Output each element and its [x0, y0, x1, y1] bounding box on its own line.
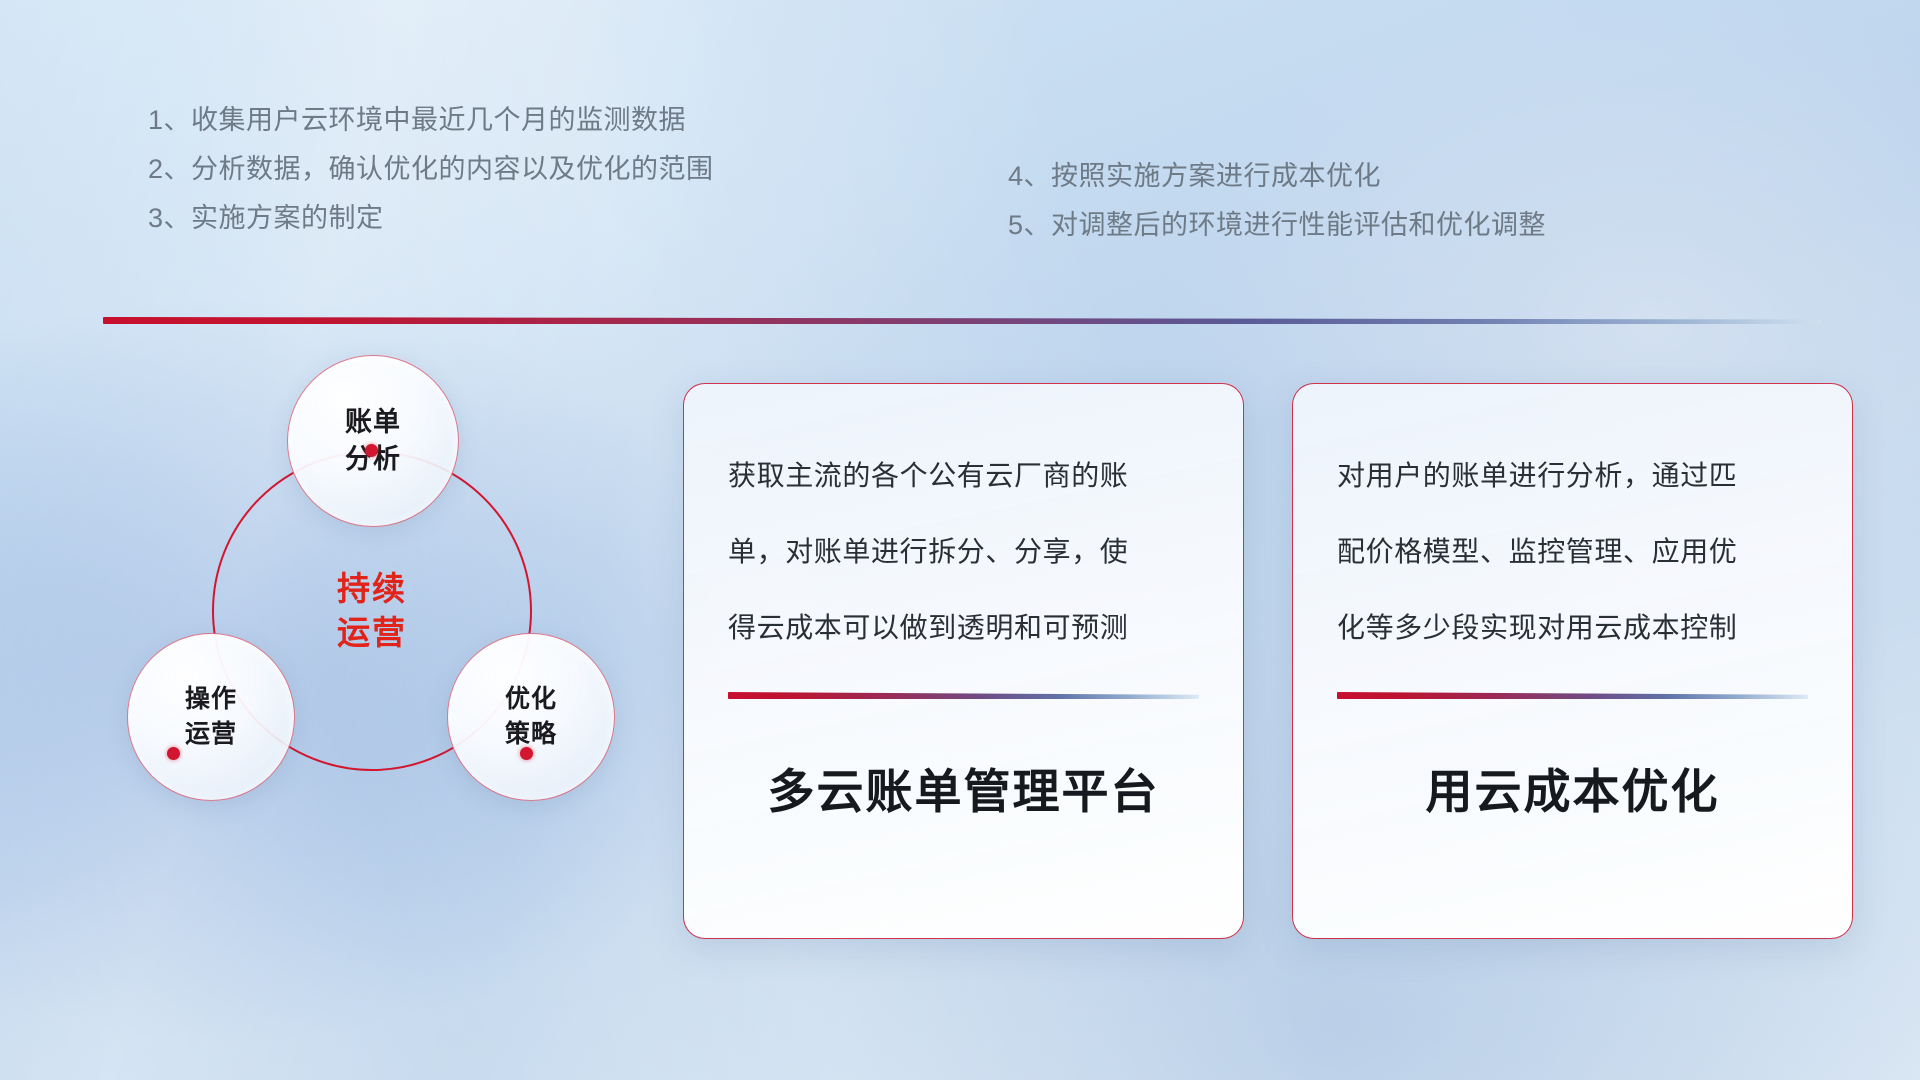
- card-body-line: 获取主流的各个公有云厂商的账: [728, 438, 1199, 514]
- center-label-line2: 运营: [337, 611, 407, 655]
- connector-dot-right: [520, 747, 533, 760]
- steps-right-column: 4、按照实施方案进行成本优化 5、对调整后的环境进行性能评估和优化调整: [1008, 152, 1546, 250]
- card-title: 用云成本优化: [1337, 753, 1808, 822]
- step-item: 4、按照实施方案进行成本优化: [1008, 152, 1546, 201]
- continuous-operation-diagram: 账单 分析 操作 运营 优化 策略 持续 运营: [95, 355, 615, 965]
- card-body: 获取主流的各个公有云厂商的账 单，对账单进行拆分、分享，使 得云成本可以做到透明…: [728, 438, 1199, 666]
- connector-dot-top: [365, 444, 378, 457]
- card-body-line: 配价格模型、监控管理、应用优: [1337, 514, 1808, 590]
- step-item: 1、收集用户云环境中最近几个月的监测数据: [148, 96, 714, 145]
- card-title: 多云账单管理平台: [728, 753, 1199, 822]
- card-body-line: 单，对账单进行拆分、分享，使: [728, 514, 1199, 590]
- connector-dot-left: [167, 747, 180, 760]
- step-item: 5、对调整后的环境进行性能评估和优化调整: [1008, 201, 1546, 250]
- card-body-line: 对用户的账单进行分析，通过匹: [1337, 438, 1808, 514]
- step-item: 3、实施方案的制定: [148, 194, 714, 243]
- step-item: 2、分析数据，确认优化的内容以及优化的范围: [148, 145, 714, 194]
- card-multi-cloud-billing-platform[interactable]: 获取主流的各个公有云厂商的账 单，对账单进行拆分、分享，使 得云成本可以做到透明…: [683, 383, 1244, 939]
- card-body-line: 化等多少段实现对用云成本控制: [1337, 590, 1808, 666]
- card-body: 对用户的账单进行分析，通过匹 配价格模型、监控管理、应用优 化等多少段实现对用云…: [1337, 438, 1808, 666]
- center-label-line1: 持续: [337, 567, 407, 611]
- card-divider: [728, 692, 1199, 699]
- card-body-line: 得云成本可以做到透明和可预测: [728, 590, 1199, 666]
- center-label: 持续 运营: [212, 451, 532, 771]
- card-divider: [1337, 692, 1808, 699]
- bubble-label-line1: 账单: [345, 404, 401, 441]
- card-cloud-cost-optimization[interactable]: 对用户的账单进行分析，通过匹 配价格模型、监控管理、应用优 化等多少段实现对用云…: [1292, 383, 1853, 939]
- steps-left-column: 1、收集用户云环境中最近几个月的监测数据 2、分析数据，确认优化的内容以及优化的…: [148, 96, 714, 243]
